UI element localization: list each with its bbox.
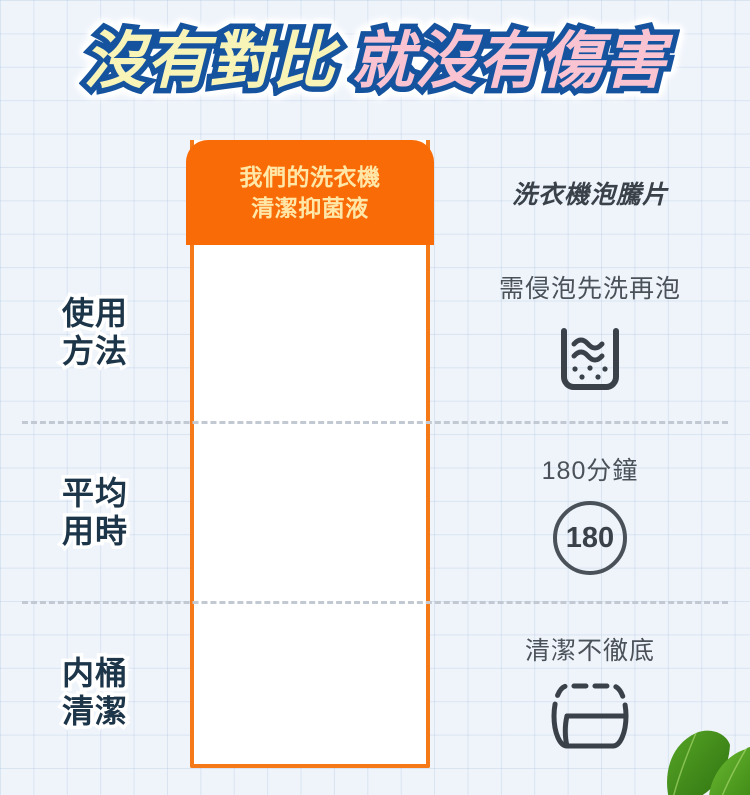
row-divider <box>22 421 728 424</box>
row-label-line1: 内桶 <box>62 655 128 693</box>
row-label-line2: 清潔 <box>62 693 128 731</box>
row-label-line2: 方法 <box>62 333 128 371</box>
ours-column-header-line2: 清潔抑菌液 <box>240 193 381 223</box>
page-title-part-b: 就沒有傷害 <box>352 26 667 97</box>
theirs-cell-usage-method: 需侵泡先洗再泡 <box>430 245 750 421</box>
theirs-column-header-text: 洗衣機泡騰片 <box>512 175 668 211</box>
row-label-line2: 用時 <box>62 513 128 551</box>
theirs-drum-text: 清潔不徹底 <box>525 631 655 667</box>
theirs-column-header: 洗衣機泡騰片 <box>430 140 750 245</box>
soaking-basin-icon <box>554 325 626 398</box>
row-label-line1: 平均 <box>62 475 128 513</box>
row-label-drum-cleaning: 内桶 清潔 <box>0 605 190 781</box>
ours-column-header: 我們的洗衣機 清潔抑菌液 <box>186 140 434 245</box>
theirs-cell-drum-cleaning: 清潔不徹底 <box>430 605 750 781</box>
row-divider <box>22 601 728 604</box>
row-label-usage-method: 使用 方法 <box>0 245 190 421</box>
row-label-average-time: 平均 用時 <box>0 425 190 601</box>
page-title: 沒有對比就沒有傷害 <box>0 26 750 97</box>
theirs-cell-average-time: 180分鐘 180 <box>430 425 750 601</box>
ours-column-header-line1: 我們的洗衣機 <box>240 162 381 192</box>
drum-partial-clean-icon <box>544 681 636 756</box>
theirs-time-text: 180分鐘 <box>542 451 639 487</box>
row-label-line1: 使用 <box>62 295 128 333</box>
duration-circle-icon-theirs: 180 <box>553 501 627 575</box>
ours-column-header-text: 我們的洗衣機 清潔抑菌液 <box>240 162 381 223</box>
theirs-usage-text: 需侵泡先洗再泡 <box>499 269 681 305</box>
page-title-part-a: 沒有對比 <box>83 26 335 97</box>
comparison-table: 我們的洗衣機 清潔抑菌液 洗衣機泡騰片 使用 方法 免浸泡 1鍵清潔 需侵泡先洗… <box>0 140 750 780</box>
